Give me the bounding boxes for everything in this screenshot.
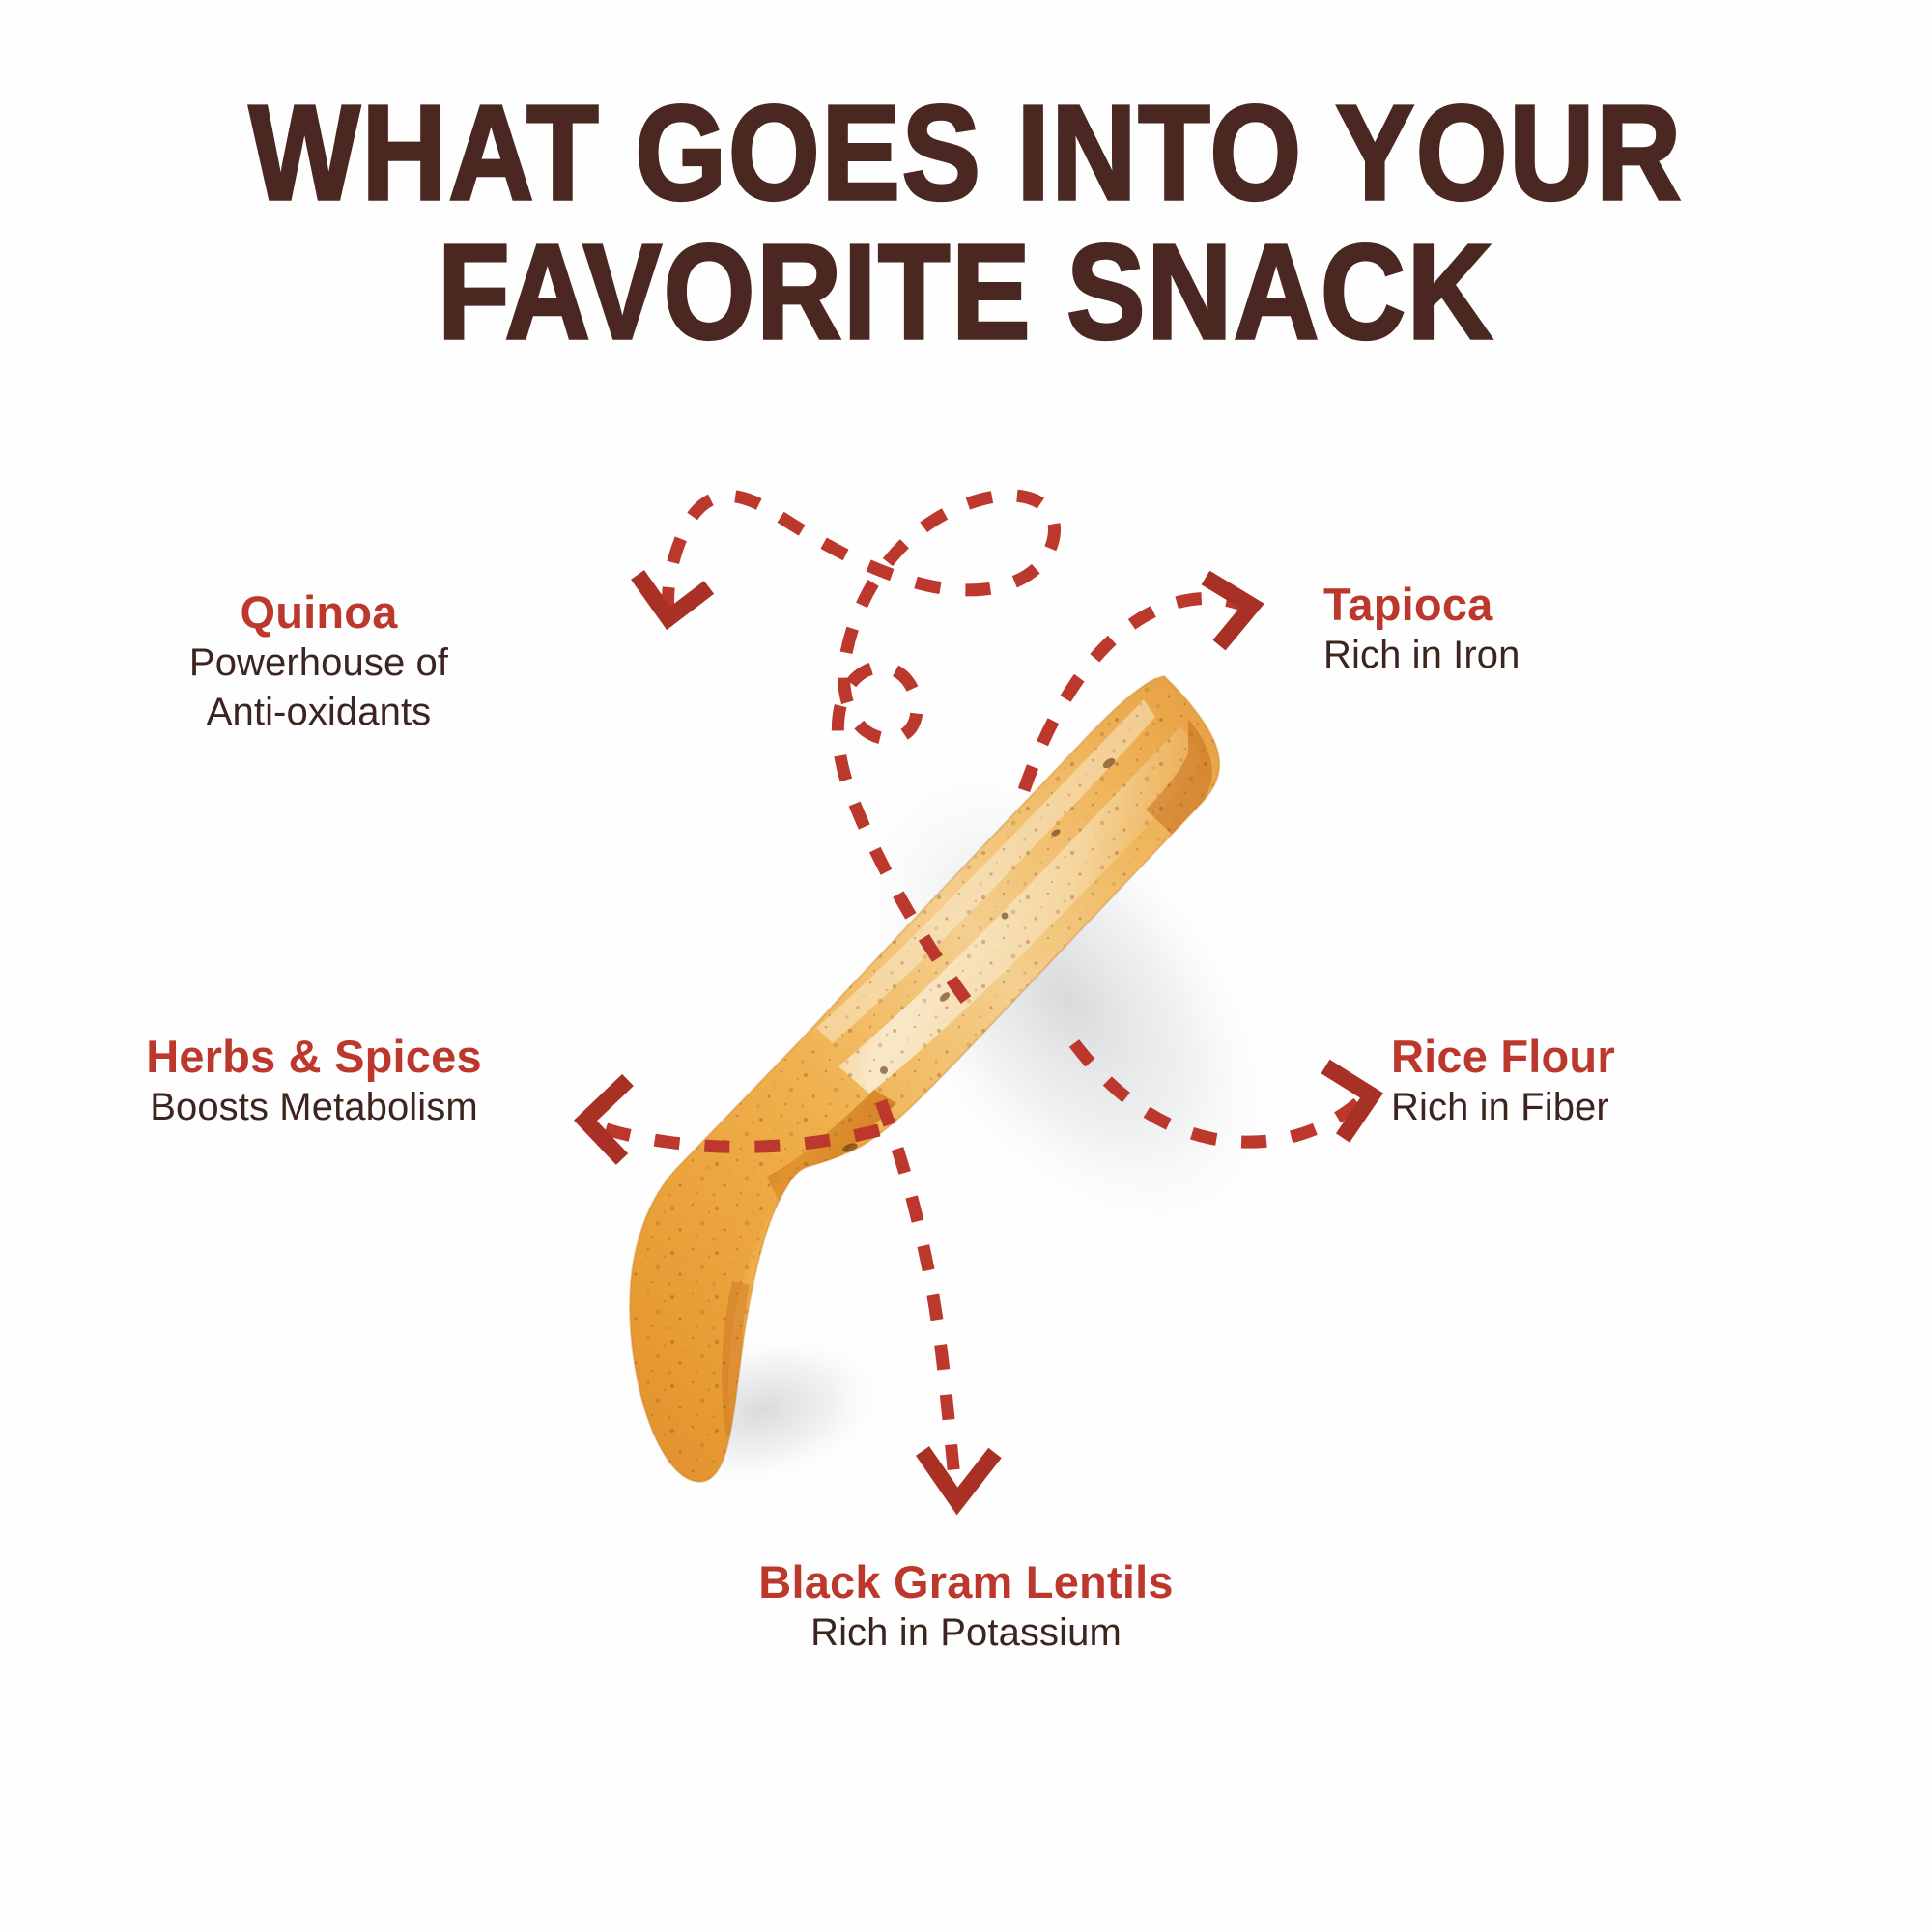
arrow-path-herbs bbox=[593, 1124, 879, 1147]
arrow-path-rice-flour bbox=[1074, 1043, 1362, 1142]
arrow-path-tapioca bbox=[1024, 598, 1246, 790]
arrow-overlay bbox=[0, 0, 1932, 1932]
arrowhead-herbs bbox=[585, 1080, 628, 1159]
arrowhead-rice-flour bbox=[1325, 1066, 1372, 1138]
poster-canvas: WHAT GOES INTO YOUR FAVORITE SNACK bbox=[0, 0, 1932, 1932]
arrow-path-lentils bbox=[881, 1101, 956, 1499]
arrowhead-tapioca bbox=[1206, 578, 1252, 645]
arrow-path-quinoa bbox=[668, 496, 1055, 1000]
